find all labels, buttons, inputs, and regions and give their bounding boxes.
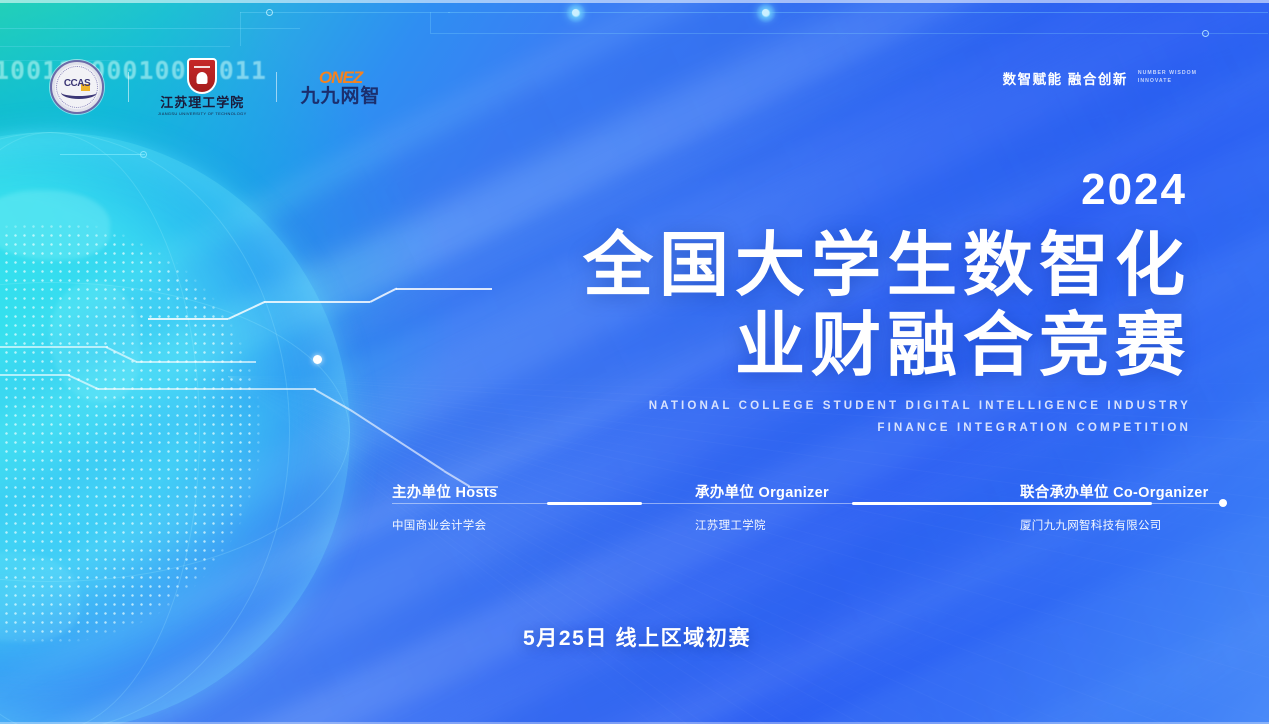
organizer-heading: 联合承办单位 Co-Organizer [1020,481,1209,502]
organizer-item: 联合承办单位 Co-Organizer 厦门九九网智科技有限公司 [1020,481,1209,533]
date-banner: 5月25日 线上区域初赛 [523,622,751,652]
title-line-1: 全国大学生数智化 [583,226,1191,306]
slogan-en-line2: INNOVATE [1138,78,1197,86]
logo-jiangsu-university: 江苏理工学院 JIANGSU UNIVERSITY OF TECHNOLOGY [153,58,252,116]
top-edge-highlight [0,0,1269,3]
organizer-item: 承办单位 Organizer 江苏理工学院 [695,481,829,533]
slogan-en-line1: NUMBER WISDOM [1138,70,1197,78]
slogan-block: 数智赋能 融合创新 NUMBER WISDOM INNOVATE [1003,68,1197,88]
organizer-body: 中国商业会计学会 [392,517,497,533]
logo-onez: ONEZ 九九网智 [301,69,381,106]
logo-ccas-seal: CCAS [50,60,104,114]
circuit-node-icon [266,9,273,16]
circuit-node-icon [762,9,769,16]
digital-globe-graphic [0,132,350,724]
organizer-heading: 承办单位 Organizer [695,481,829,502]
logo-divider [128,72,129,102]
onez-latin-wordmark: ONEZ [319,69,362,86]
title-line-2: 业财融合竞赛 [583,306,1191,386]
ccas-seal-mark: CCAS [64,78,90,89]
competition-poster: 10011000010010011 CCAS 江苏理工学院 JIANGSU UN… [0,0,1269,724]
organizers-block: 主办单位 Hosts 中国商业会计学会 承办单位 Organizer 江苏理工学… [392,481,1227,541]
title-block: 2024 全国大学生数智化 业财融合竞赛 NATIONAL COLLEGE ST… [583,168,1191,440]
slogan-cn: 数智赋能 融合创新 [1003,68,1128,88]
logo-divider [276,72,277,102]
ccas-seal-icon: CCAS [50,60,104,114]
circuit-node-icon [572,9,579,16]
onez-cn-wordmark: 九九网智 [301,87,381,106]
organizers-rule-segment [547,502,642,505]
university-name-cn: 江苏理工学院 [160,96,244,109]
logo-bar: CCAS 江苏理工学院 JIANGSU UNIVERSITY OF TECHNO… [50,58,381,116]
organizer-heading: 主办单位 Hosts [392,481,497,502]
organizer-item: 主办单位 Hosts 中国商业会计学会 [392,481,497,533]
university-name-en: JIANGSU UNIVERSITY OF TECHNOLOGY [158,111,247,116]
circuit-node-icon [1202,30,1209,37]
year-label: 2024 [583,168,1187,212]
organizers-rule-end-dot [1219,499,1227,507]
organizer-body: 江苏理工学院 [695,517,829,533]
university-shield-icon [187,58,217,94]
organizer-body: 厦门九九网智科技有限公司 [1020,517,1209,533]
title-en-line-2: FINANCE INTEGRATION COMPETITION [583,417,1191,440]
title-en-line-1: NATIONAL COLLEGE STUDENT DIGITAL INTELLI… [583,395,1191,418]
